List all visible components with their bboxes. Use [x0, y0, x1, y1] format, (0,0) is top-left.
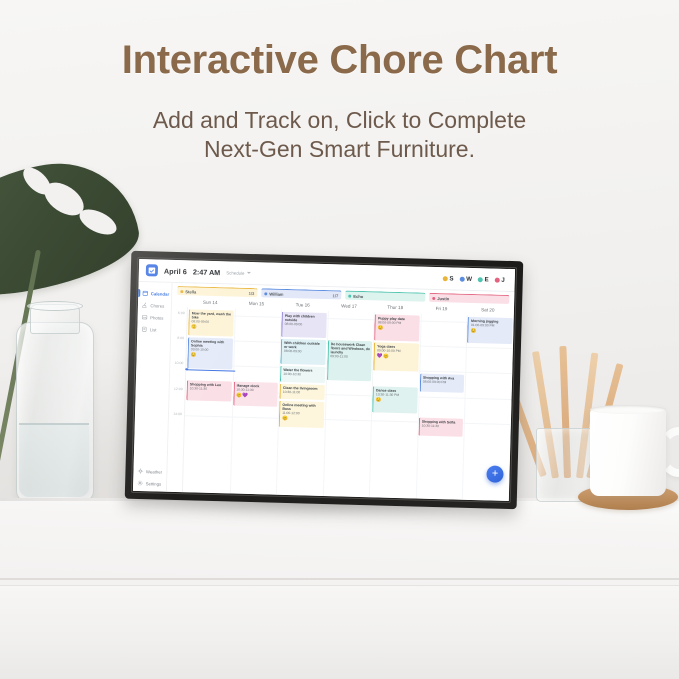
calendar-event[interactable]: Morning jogging01:00-09:00 PM😊: [467, 317, 512, 344]
calendar-event[interactable]: Clean the livingroom10:30-11:00: [280, 384, 325, 400]
sidebar-item-label: Photos: [150, 315, 164, 320]
member-chip-justin[interactable]: Justin: [429, 293, 509, 304]
chip-dot: [180, 290, 183, 293]
event-emoji: 🙂: [191, 325, 231, 331]
calendar-event[interactable]: Online meeting with Sophia09:00-10:00😊: [187, 337, 232, 369]
event-emoji: 😊: [282, 417, 322, 423]
list-icon: [141, 326, 147, 332]
vase-water: [19, 424, 89, 497]
chip-fraction: 1/3: [249, 290, 255, 295]
calendar-event[interactable]: Shopping with Leo10:30-11:30: [186, 380, 231, 401]
broom-icon: [142, 302, 148, 308]
smart-display: April 6 2:47 AM Schedule S W: [125, 251, 524, 510]
member-chip-echo[interactable]: Echo: [345, 291, 425, 302]
calendar-event[interactable]: Mow the yard, wash the bike08:00-09:00🙂: [188, 309, 233, 336]
calendar-icon[interactable]: [146, 264, 158, 276]
promo-headline: Interactive Chore Chart: [0, 38, 679, 83]
sidebar-item-label: List: [150, 327, 157, 332]
avatar-dot: [460, 276, 465, 281]
sidebar-spacer: [134, 335, 171, 466]
event-time: 10:00-10:30: [283, 373, 323, 378]
hour-label: 8:00: [177, 336, 184, 340]
header-date: April 6: [164, 266, 187, 276]
header-time: 2:47 AM: [193, 267, 221, 277]
calendar-view: Stella 1/3 William 1/7 Echo: [167, 283, 515, 501]
chip-name: Echo: [353, 293, 363, 298]
hour-label: 12:00: [174, 387, 183, 391]
calendar-event[interactable]: Puppy play date08:00-09:00 PM😊: [374, 314, 419, 341]
sidebar: Calendar Chores: [133, 282, 173, 492]
event-emoji: 😊: [376, 398, 416, 404]
add-event-button[interactable]: +: [486, 465, 503, 482]
avatar[interactable]: W: [459, 275, 472, 282]
calendar-event[interactable]: Water the flowers10:00-10:30: [280, 366, 325, 383]
calendar-event[interactable]: Shopping with Ava08:00-09:00 PM: [420, 374, 465, 393]
promo-subheadline-line2: Next-Gen Smart Furniture.: [0, 135, 679, 164]
member-chip-stella[interactable]: Stella 1/3: [177, 286, 257, 297]
avatar-initial: E: [485, 276, 489, 283]
sidebar-item-calendar[interactable]: Calendar: [138, 287, 171, 300]
display-bezel: April 6 2:47 AM Schedule S W: [125, 251, 524, 510]
chip-name: Justin: [437, 296, 449, 301]
mug-rim: [590, 405, 666, 414]
hour-label: 6:00: [178, 311, 185, 315]
display-screen: April 6 2:47 AM Schedule S W: [133, 259, 515, 501]
chip-dot: [432, 296, 435, 299]
calendar-grid-wrapper: 6:008:0010:0012:0014:00 + Mow the yard, …: [167, 307, 514, 501]
avatar[interactable]: E: [478, 276, 489, 283]
calendar-event[interactable]: Dance class10:30-11:30 PM😊: [372, 386, 417, 413]
event-emoji: 😊: [471, 329, 511, 335]
event-time: 08:00-09:00 PM: [423, 380, 463, 385]
sun-icon: [137, 468, 143, 474]
sidebar-item-label: Chores: [150, 303, 164, 308]
chip-fraction: 1/7: [333, 293, 339, 298]
avatar[interactable]: J: [495, 276, 505, 283]
current-time-dot: [185, 368, 188, 371]
calendar-event[interactable]: Manage clock10:30-11:30😊💜: [233, 382, 278, 407]
event-emoji: 😊💜: [236, 393, 276, 399]
chip-dot: [264, 292, 267, 295]
avatar-dot: [478, 277, 483, 282]
chip-dot: [348, 294, 351, 297]
vase-water-line: [19, 423, 89, 425]
event-time: 10:30-11:00: [283, 391, 323, 396]
app-body: Calendar Chores: [133, 282, 515, 501]
calendar-icon: [142, 290, 148, 296]
event-emoji: 😊: [191, 353, 231, 359]
product-marketing-image: Interactive Chore Chart Add and Track on…: [0, 0, 679, 679]
event-time: 10:30-11:30: [190, 387, 230, 392]
avatar-initial: W: [466, 275, 472, 282]
sidebar-item-list[interactable]: List: [137, 323, 170, 336]
calendar-event[interactable]: Shopping with Sofia10:30-11:30: [418, 418, 463, 437]
calendar-event[interactable]: Online meeting with Boss11:00-12:00😊: [279, 401, 324, 428]
sidebar-item-settings[interactable]: Settings: [133, 477, 166, 492]
chevron-down-icon: [247, 272, 251, 274]
photo-icon: [142, 314, 148, 320]
calendar-event[interactable]: Play with children outside08:00-09:00: [281, 312, 326, 338]
event-emoji: 😊: [378, 326, 418, 332]
chip-name: Stella: [185, 289, 196, 294]
avatar[interactable]: S: [443, 275, 454, 282]
view-selector[interactable]: Schedule: [226, 270, 250, 276]
event-time: 09:00-11:00: [330, 355, 370, 360]
sidebar-item-label: Weather: [146, 469, 162, 474]
sidebar-item-weather[interactable]: Weather: [133, 465, 166, 478]
calendar-event[interactable]: With children outside or work08:00-09:00: [281, 339, 326, 365]
sidebar-item-label: Settings: [146, 481, 162, 486]
event-emoji: 💜😊: [377, 354, 417, 360]
vase-lip: [27, 301, 83, 311]
sidebar-item-chores[interactable]: Chores: [138, 299, 171, 312]
avatar-initial: S: [449, 275, 453, 282]
coffee-mug: [590, 408, 666, 496]
member-chip-william[interactable]: William 1/7: [261, 288, 341, 299]
chip-name: William: [269, 291, 283, 296]
sidebar-item-label: Calendar: [151, 291, 170, 296]
calendar-grid[interactable]: + Mow the yard, wash the bike08:00-09:00…: [182, 307, 514, 501]
member-avatars: S W E J: [443, 275, 508, 284]
avatar-dot: [443, 276, 448, 281]
calendar-event[interactable]: Do housework Clean floors and Windows, d…: [327, 340, 373, 381]
promo-subheadline: Add and Track on, Click to Complete Next…: [0, 106, 679, 164]
avatar-dot: [495, 277, 500, 282]
hour-label: 14:00: [173, 412, 182, 416]
event-time: 10:30-11:30: [422, 424, 462, 429]
current-time-line: [186, 369, 235, 371]
avatar-initial: J: [501, 276, 505, 283]
view-selector-label: Schedule: [226, 270, 244, 275]
table-lip: [0, 578, 679, 580]
calendar-event[interactable]: Yoga class09:00-10:00 PM💜😊: [374, 342, 419, 371]
event-time: 08:00-09:00: [284, 350, 324, 355]
grid-line: [188, 314, 514, 324]
event-time: 08:00-09:00: [285, 323, 325, 328]
gear-icon: [137, 480, 143, 486]
table-front-panel: [0, 586, 679, 679]
hour-label: 10:00: [175, 361, 184, 365]
sidebar-item-photos[interactable]: Photos: [137, 311, 170, 324]
promo-subheadline-line1: Add and Track on, Click to Complete: [0, 106, 679, 135]
